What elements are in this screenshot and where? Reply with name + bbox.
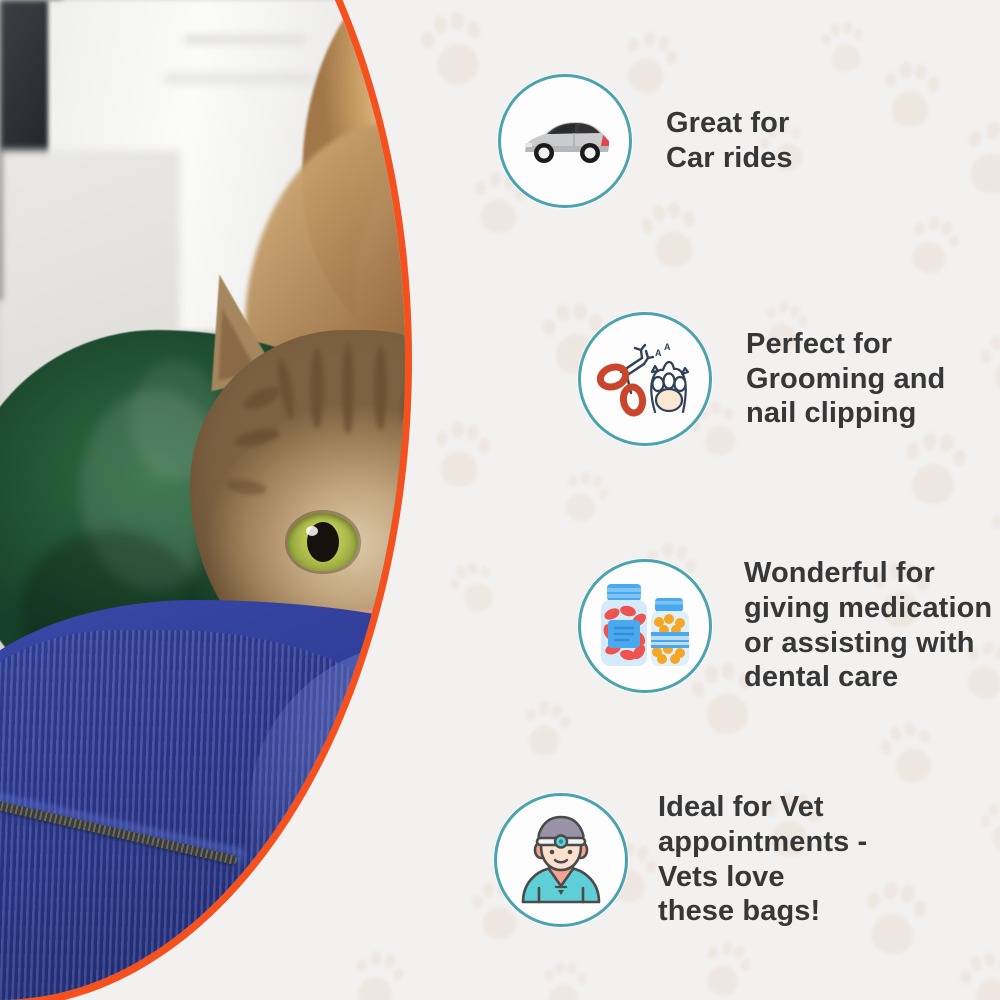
feature-item-medication: Wonderful for giving medication or assis… bbox=[578, 556, 992, 695]
feature-icon-circle bbox=[498, 74, 632, 208]
infographic-canvas: Great for Car rides bbox=[0, 0, 1000, 1000]
car-icon bbox=[519, 113, 611, 169]
nail-clippers-paw-icon: AA bbox=[597, 336, 693, 422]
veterinarian-icon bbox=[515, 814, 607, 906]
feature-label: Great for Car rides bbox=[666, 106, 793, 176]
svg-text:A: A bbox=[655, 348, 662, 358]
feature-icon-circle: AA bbox=[578, 312, 712, 446]
feature-label: Wonderful for giving medication or assis… bbox=[744, 556, 992, 695]
feature-label: Ideal for Vet appointments - Vets love t… bbox=[658, 790, 867, 929]
svg-text:A: A bbox=[664, 342, 671, 352]
feature-icon-circle bbox=[578, 559, 712, 693]
feature-item-vet: Ideal for Vet appointments - Vets love t… bbox=[494, 790, 867, 929]
feature-label: Perfect for Grooming and nail clipping bbox=[746, 327, 945, 431]
feature-item-car-rides: Great for Car rides bbox=[498, 74, 793, 208]
medicine-bottles-icon bbox=[595, 580, 695, 672]
feature-list: Great for Car rides bbox=[0, 0, 1000, 1000]
feature-item-grooming: AA Perfect for Grooming and nail clippin… bbox=[578, 312, 945, 446]
feature-icon-circle bbox=[494, 793, 628, 927]
